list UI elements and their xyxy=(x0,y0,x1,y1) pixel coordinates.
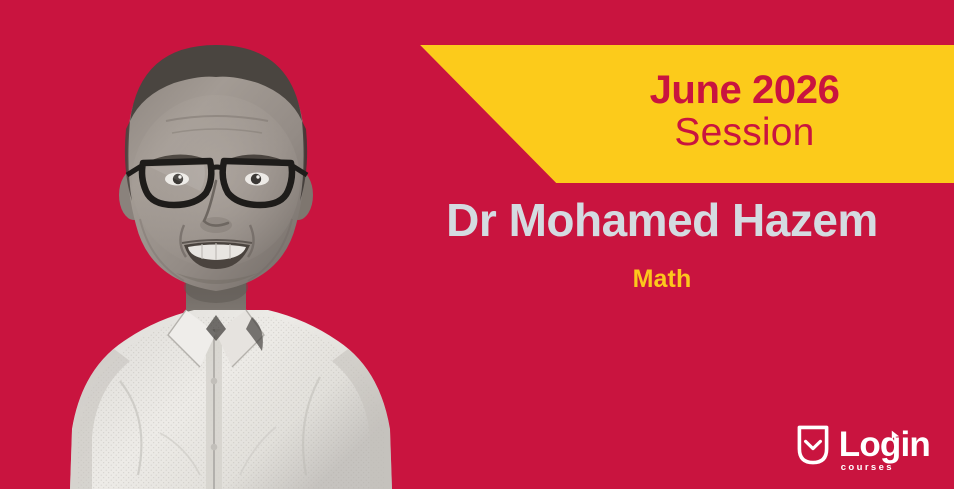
course-session-promo-card: June 2026 Session Dr Mohamed Hazem Math … xyxy=(0,0,954,489)
shield-chevron-icon xyxy=(796,424,830,466)
instructor-name: Dr Mohamed Hazem xyxy=(390,196,934,244)
instructor-portrait-image xyxy=(0,29,430,489)
session-label: Session xyxy=(674,111,814,156)
portrait-head xyxy=(125,45,307,291)
portrait-shirt xyxy=(60,299,410,489)
brand-logo[interactable]: Login courses xyxy=(796,424,930,466)
brand-tagline: courses xyxy=(841,463,894,473)
instructor-info: Dr Mohamed Hazem Math xyxy=(390,196,934,294)
cursor-dot-icon xyxy=(891,430,900,441)
session-month-year: June 2026 xyxy=(650,70,840,111)
instructor-subject: Math xyxy=(390,266,934,294)
session-banner: June 2026 Session xyxy=(415,45,954,183)
brand-wordmark: Login courses xyxy=(839,428,930,461)
instructor-portrait xyxy=(0,0,430,489)
brand-name: Login xyxy=(839,428,930,461)
